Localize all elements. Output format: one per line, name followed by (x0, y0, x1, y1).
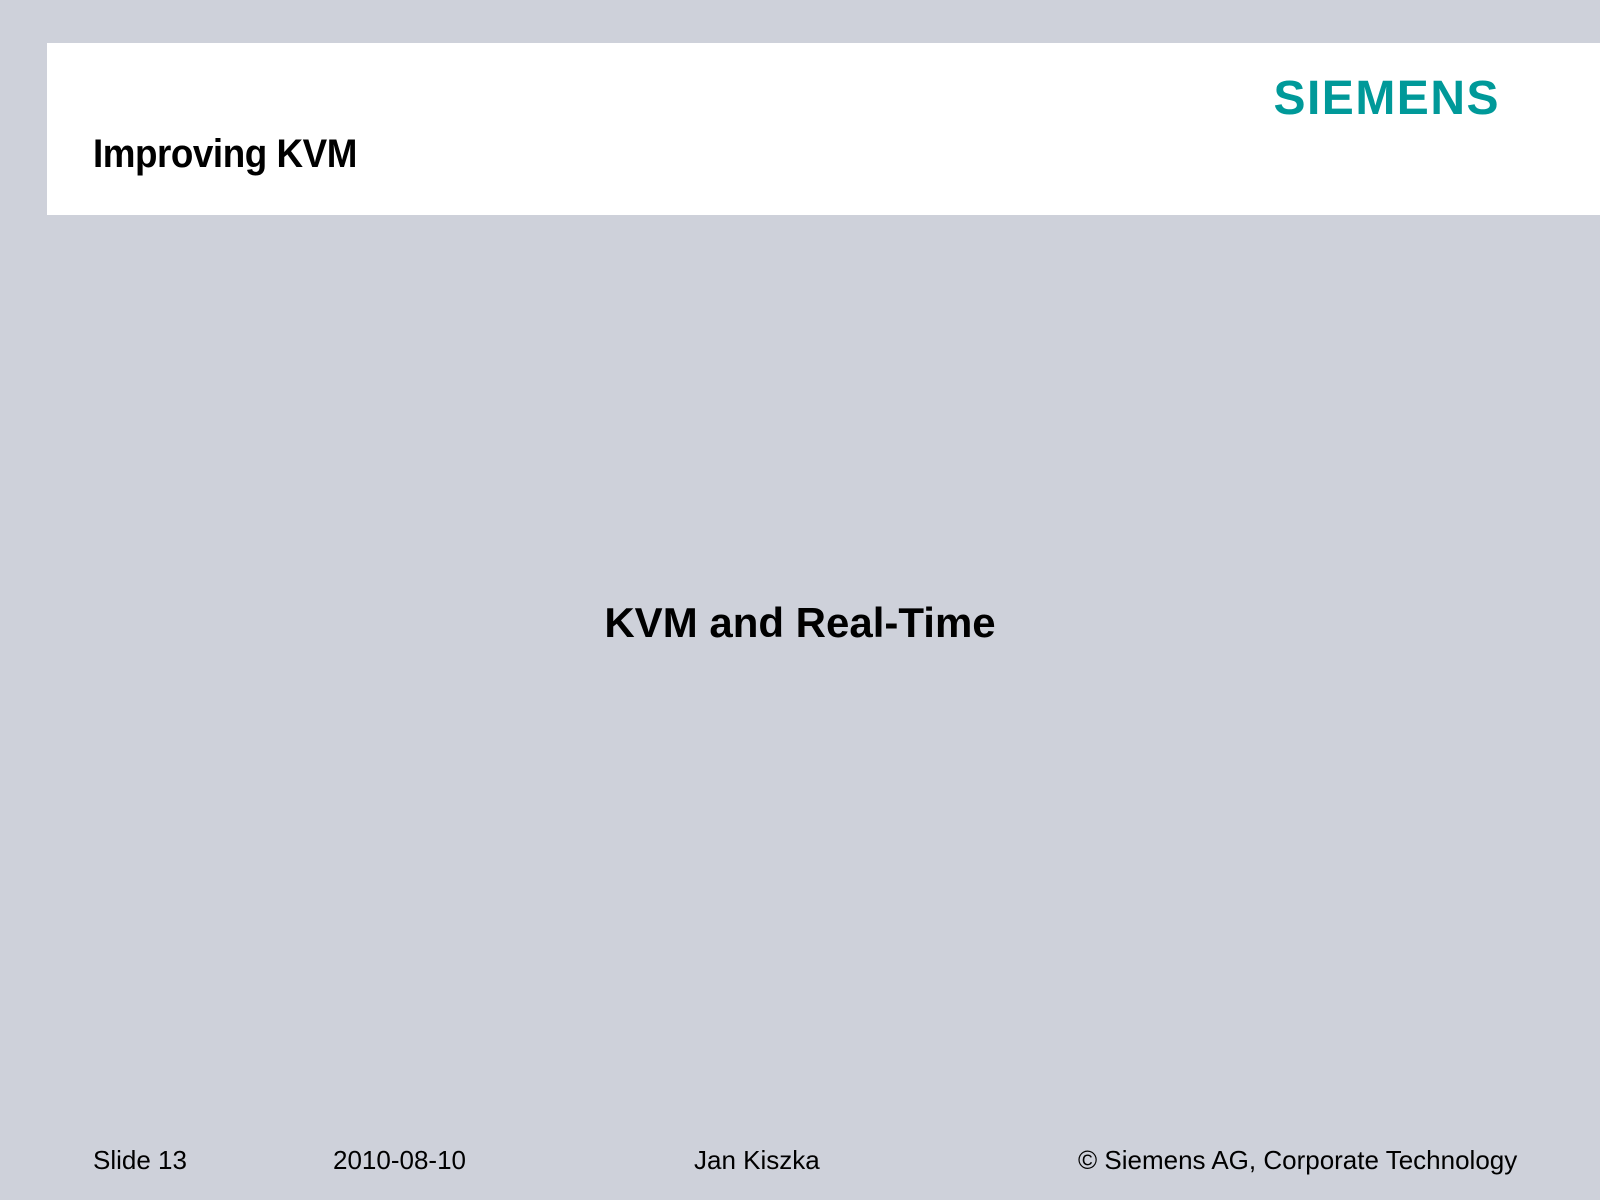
footer-slide-number: Slide 13 (93, 1145, 187, 1175)
slide-footer: Slide 13 2010-08-10 Jan Kiszka © Siemens… (0, 1135, 1600, 1181)
presentation-slide: Improving KVM SIEMENS KVM and Real-Time … (0, 0, 1600, 1200)
section-title: KVM and Real-Time (0, 598, 1600, 648)
siemens-logo: SIEMENS (1273, 71, 1500, 127)
header-band: Improving KVM SIEMENS (47, 43, 1600, 215)
footer-copyright: © Siemens AG, Corporate Technology (1078, 1145, 1517, 1175)
slide-content-area: KVM and Real-Time (0, 215, 1600, 1105)
page-title: Improving KVM (93, 131, 357, 177)
footer-date: 2010-08-10 (333, 1145, 466, 1175)
footer-author: Jan Kiszka (694, 1145, 820, 1175)
